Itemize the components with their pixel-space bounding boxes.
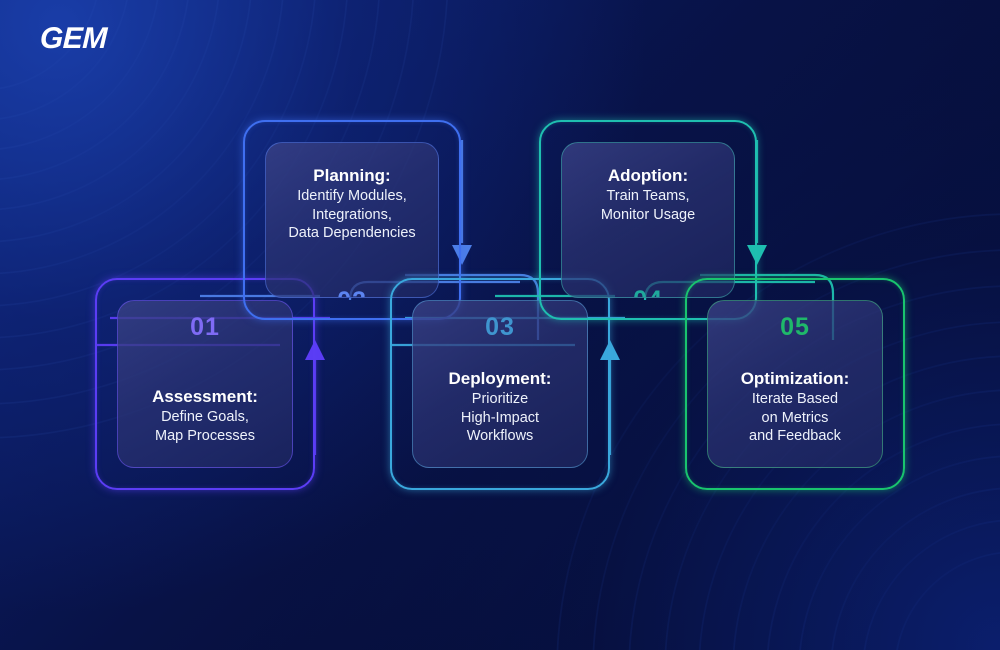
step-desc-01-line-0: Define Goals, — [152, 408, 258, 427]
step-number-01: 01 — [190, 315, 220, 340]
step-text-03: Deployment: Prioritize High-Impact Workf… — [449, 368, 552, 446]
step-desc-02-line-0: Identify Modules, — [288, 187, 415, 206]
step-desc-02-line-1: Integrations, — [288, 206, 415, 225]
step-desc-03-line-1: High-Impact — [449, 409, 552, 428]
step-text-04: Adoption: Train Teams, Monitor Usage — [601, 165, 695, 224]
step-desc-03-line-2: Workflows — [449, 427, 552, 446]
step-number-05: 05 — [780, 315, 810, 340]
step-text-05: Optimization: Iterate Based on Metrics a… — [741, 368, 850, 446]
step-card-04-body: Adoption: Train Teams, Monitor Usage 04 — [561, 142, 735, 298]
gem-logo: GEM — [39, 22, 107, 56]
step-desc-05-line-0: Iterate Based — [741, 390, 850, 409]
step-card-05[interactable]: 05 Optimization: Iterate Based on Metric… — [685, 278, 905, 490]
step-card-05-body: 05 Optimization: Iterate Based on Metric… — [707, 300, 883, 468]
step-title-02: Planning: — [288, 165, 415, 187]
step-desc-05-line-2: and Feedback — [741, 427, 850, 446]
step-text-01: Assessment: Define Goals, Map Processes — [152, 386, 258, 445]
step-desc-05-line-1: on Metrics — [741, 409, 850, 428]
step-number-03: 03 — [485, 315, 515, 340]
step-number-02: 02 — [337, 289, 367, 298]
step-title-03: Deployment: — [449, 368, 552, 390]
step-text-02: Planning: Identify Modules, Integrations… — [288, 165, 415, 243]
step-title-05: Optimization: — [741, 368, 850, 390]
step-desc-01-line-1: Map Processes — [152, 427, 258, 446]
step-card-02-body: Planning: Identify Modules, Integrations… — [265, 142, 439, 298]
step-desc-03-line-0: Prioritize — [449, 390, 552, 409]
infographic-canvas: GEM — [0, 0, 1000, 650]
step-desc-02-line-2: Data Dependencies — [288, 224, 415, 243]
step-card-03-body: 03 Deployment: Prioritize High-Impact Wo… — [412, 300, 588, 468]
step-desc-04-line-1: Monitor Usage — [601, 206, 695, 225]
step-title-01: Assessment: — [152, 386, 258, 408]
step-desc-04-line-0: Train Teams, — [601, 187, 695, 206]
step-card-01-body: 01 Assessment: Define Goals, Map Process… — [117, 300, 293, 468]
step-title-04: Adoption: — [601, 165, 695, 187]
step-number-04: 04 — [633, 288, 663, 298]
